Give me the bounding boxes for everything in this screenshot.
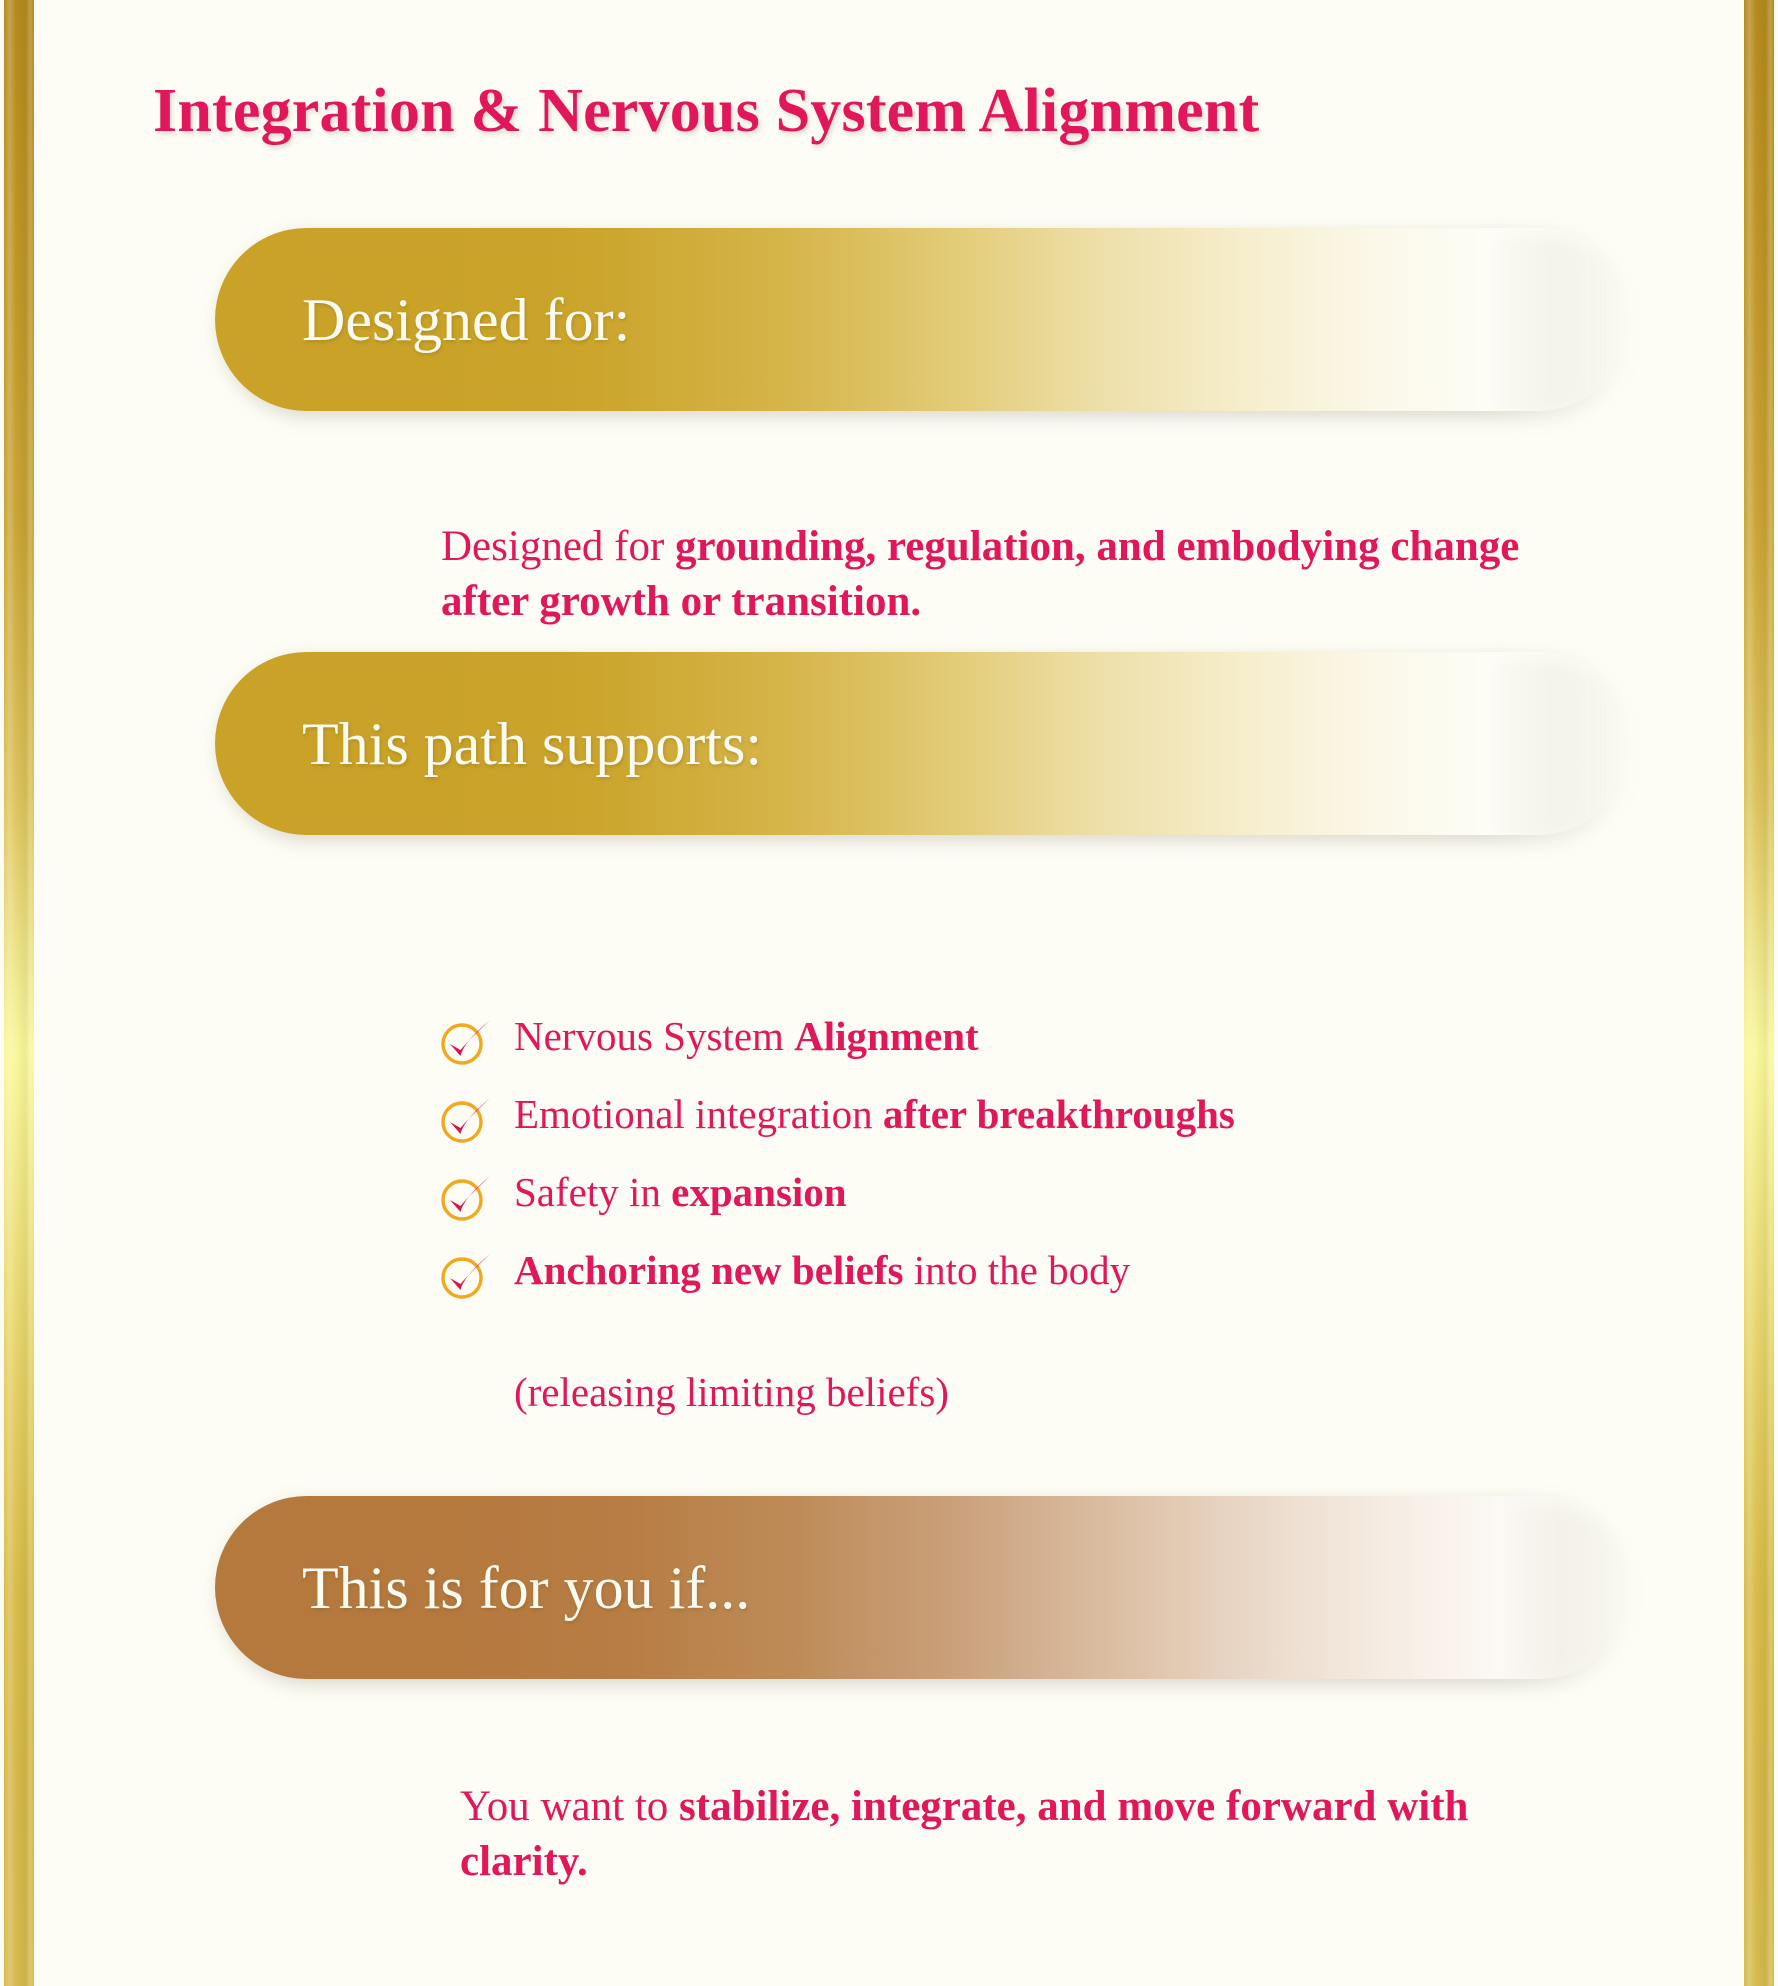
paragraph-lead: Designed for [441, 523, 675, 570]
decorative-gold-frame-left [0, 0, 38, 1986]
designed-for-paragraph: Designed for grounding, regulation, and … [441, 520, 1531, 629]
list-item-emphasis: expansion [671, 1169, 846, 1215]
frame-sheen-overlay [1744, 0, 1774, 1986]
supports-checklist: Nervous System Alignment Emotional integ… [438, 1012, 1235, 1324]
paragraph-lead: You want to [460, 1783, 679, 1830]
list-item: Anchoring new beliefs into the body [438, 1246, 1235, 1302]
section-banner-path-supports: This path supports: [215, 652, 1630, 835]
frame-sheen-overlay [4, 0, 34, 1986]
page-title: Integration & Nervous System Alignment [153, 78, 1259, 145]
list-item: Safety in expansion [438, 1168, 1235, 1224]
check-circle-icon [438, 1172, 494, 1224]
list-item-lead: Safety in [514, 1169, 671, 1215]
list-item-text: Nervous System Alignment [514, 1012, 979, 1060]
decorative-gold-frame-right [1740, 0, 1778, 1986]
banner-label: This is for you if... [215, 1558, 750, 1618]
checklist-sub-note: (releasing limiting beliefs) [514, 1368, 949, 1416]
list-item-tail: into the body [904, 1247, 1131, 1293]
section-banner-this-is-for-you-if: This is for you if... [215, 1496, 1630, 1679]
check-circle-icon [438, 1250, 494, 1302]
list-item-lead: Nervous System [514, 1013, 794, 1059]
list-item-text: Anchoring new beliefs into the body [514, 1246, 1130, 1294]
frame-gradient-bar [4, 0, 34, 1986]
slide-canvas: Integration & Nervous System Alignment D… [38, 0, 1740, 1986]
list-item-emphasis: after breakthroughs [883, 1091, 1235, 1137]
frame-gradient-bar [1744, 0, 1774, 1986]
list-item-text: Safety in expansion [514, 1168, 847, 1216]
list-item-emphasis: Anchoring new beliefs [514, 1247, 904, 1293]
banner-label: This path supports: [215, 714, 762, 774]
check-circle-icon [438, 1094, 494, 1146]
list-item: Emotional integration after breakthrough… [438, 1090, 1235, 1146]
list-item-text: Emotional integration after breakthrough… [514, 1090, 1235, 1138]
check-circle-icon [438, 1016, 494, 1068]
list-item-emphasis: Alignment [794, 1013, 979, 1059]
this-is-for-you-if-paragraph: You want to stabilize, integrate, and mo… [460, 1780, 1520, 1889]
banner-label: Designed for: [215, 290, 630, 350]
list-item: Nervous System Alignment [438, 1012, 1235, 1068]
section-banner-designed-for: Designed for: [215, 228, 1630, 411]
list-item-lead: Emotional integration [514, 1091, 883, 1137]
